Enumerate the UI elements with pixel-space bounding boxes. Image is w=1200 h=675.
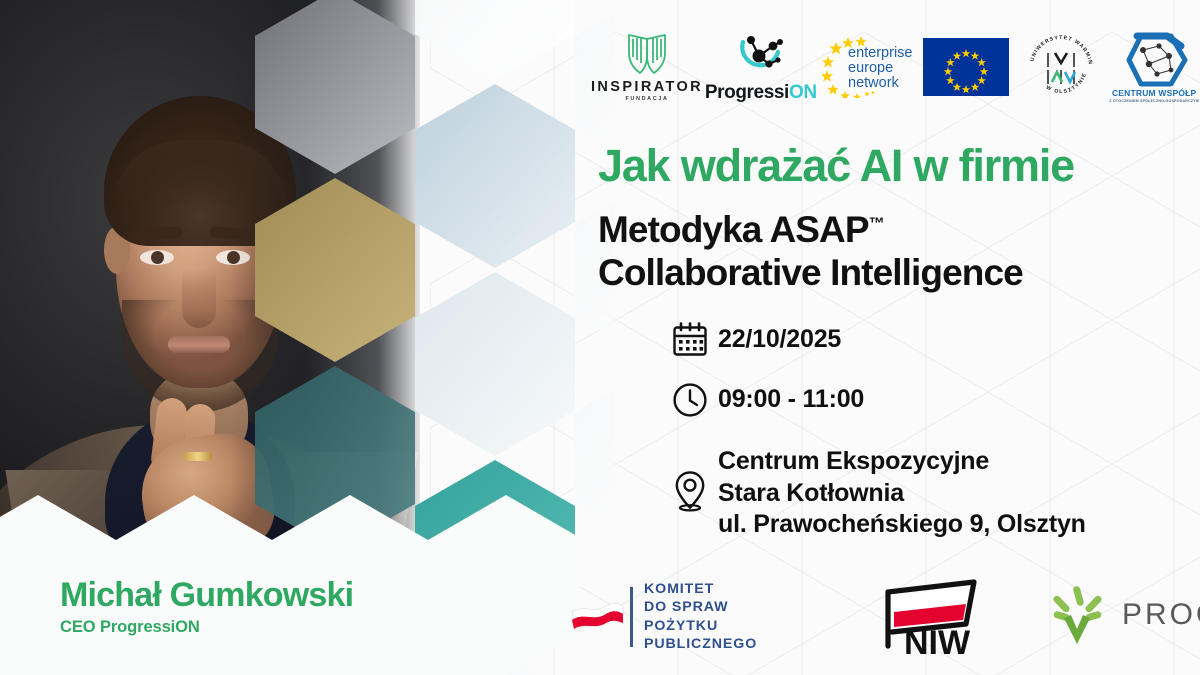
logo-proo: PROO [1046, 584, 1200, 646]
komitet-line-3: POŻYTKU [644, 617, 757, 635]
event-venue: Centrum Ekspozycyjne Stara Kotłownia ul.… [718, 444, 1086, 541]
partner-logos-bottom: KOMITET DO SPRAW POŻYTKU PUBLICZNEGO NIW [568, 566, 1200, 662]
event-banner: INSPIRATOR FUNDACJA [0, 0, 1200, 675]
event-date: 22/10/2025 [718, 322, 841, 356]
logo-uwm-olsztyn: UNIWERSYTET WARMIŃSKO-MAZURSKI W OLSZTYN… [1015, 30, 1107, 104]
proo-text: PROO [1122, 598, 1200, 632]
clock-icon [672, 382, 718, 418]
logo-komitet-do-spraw-pozytku-publicznego: KOMITET DO SPRAW POŻYTKU PUBLICZNEGO [568, 580, 757, 654]
banner-headline: Jak wdrażać AI w firmie [598, 142, 1198, 190]
speaker-credit: Michał Gumkowski CEO ProgressiON [60, 578, 353, 637]
komitet-line-1: KOMITET [644, 580, 757, 598]
komitet-line-4: PUBLICZNEGO [644, 635, 757, 653]
polish-flag-ribbon-icon [568, 594, 626, 640]
event-details: 22/10/2025 09:00 - 11:00 Ce [672, 322, 1192, 541]
subheadline-methodology: Metodyka ASAP [598, 209, 869, 250]
event-location-row: Centrum Ekspozycyjne Stara Kotłownia ul.… [672, 444, 1192, 541]
speaker-name: Michał Gumkowski [60, 578, 353, 612]
svg-text:europe: europe [848, 60, 893, 76]
svg-text:network: network [848, 75, 900, 91]
logo-progression-name: ProgressiON [705, 82, 817, 104]
logo-centrum-wspolpracy-sub: Z OTOCZENIEM SPOŁECZNO-GOSPODARCZYM [1109, 99, 1199, 103]
venue-line-3: ul. Prawocheńskiego 9, Olsztyn [718, 509, 1086, 541]
logo-divider [630, 587, 633, 647]
logo-inspirator-sub: FUNDACJA [625, 96, 668, 102]
portrait-edge-fade [230, 0, 420, 675]
logo-enterprise-europe-network: enterprise europe network [820, 36, 918, 98]
logo-niw: NIW [874, 574, 990, 658]
speaker-role: CEO ProgressiON [60, 618, 353, 637]
logo-inspirator-name: INSPIRATOR [591, 79, 703, 95]
logo-european-union-flag [917, 38, 1015, 96]
leaf-mark-icon [624, 33, 670, 75]
speaker-portrait [0, 0, 420, 675]
banner-subheadline: Metodyka ASAP™ Collaborative Intelligenc… [598, 208, 1198, 295]
calendar-icon [672, 322, 718, 358]
green-sparkle-mark-icon [1046, 584, 1112, 646]
subheadline-line-1: Metodyka ASAP™ [598, 208, 1198, 251]
event-date-row: 22/10/2025 [672, 322, 1192, 382]
event-time: 09:00 - 11:00 [718, 382, 864, 416]
logo-progression-name-accent: ON [789, 82, 817, 103]
map-pin-icon [672, 444, 718, 512]
venue-line-2: Stara Kotłownia [718, 478, 1086, 510]
uwm-crest-icon: UNIWERSYTET WARMIŃSKO-MAZURSKI W OLSZTYN… [1024, 30, 1098, 104]
svg-text:enterprise: enterprise [848, 45, 912, 61]
komitet-line-2: DO SPRAW [644, 598, 757, 616]
logo-inspirator: INSPIRATOR FUNDACJA [592, 33, 702, 102]
venue-line-1: Centrum Ekspozycyjne [718, 446, 1086, 478]
event-time-row: 09:00 - 11:00 [672, 382, 1192, 444]
niw-text: NIW [904, 624, 971, 658]
trademark-symbol: ™ [869, 216, 885, 233]
partner-logos-top: INSPIRATOR FUNDACJA [592, 24, 1200, 110]
eu-flag-icon [923, 38, 1009, 96]
hex-network-mark-icon [1119, 32, 1189, 88]
network-node-mark-icon [733, 30, 789, 80]
logo-centrum-wspolpracy-name: CENTRUM WSPÓŁP [1112, 88, 1197, 98]
logo-progression: ProgressiON [702, 30, 820, 104]
logo-progression-name-dark: Progressi [705, 82, 789, 103]
star-circle-mark-icon: enterprise europe network [822, 36, 914, 98]
subheadline-line-2: Collaborative Intelligence [598, 251, 1198, 294]
komitet-name-lines: KOMITET DO SPRAW POŻYTKU PUBLICZNEGO [644, 580, 757, 654]
logo-centrum-wspolpracy: CENTRUM WSPÓŁP Z OTOCZENIEM SPOŁECZNO-GO… [1108, 32, 1200, 103]
